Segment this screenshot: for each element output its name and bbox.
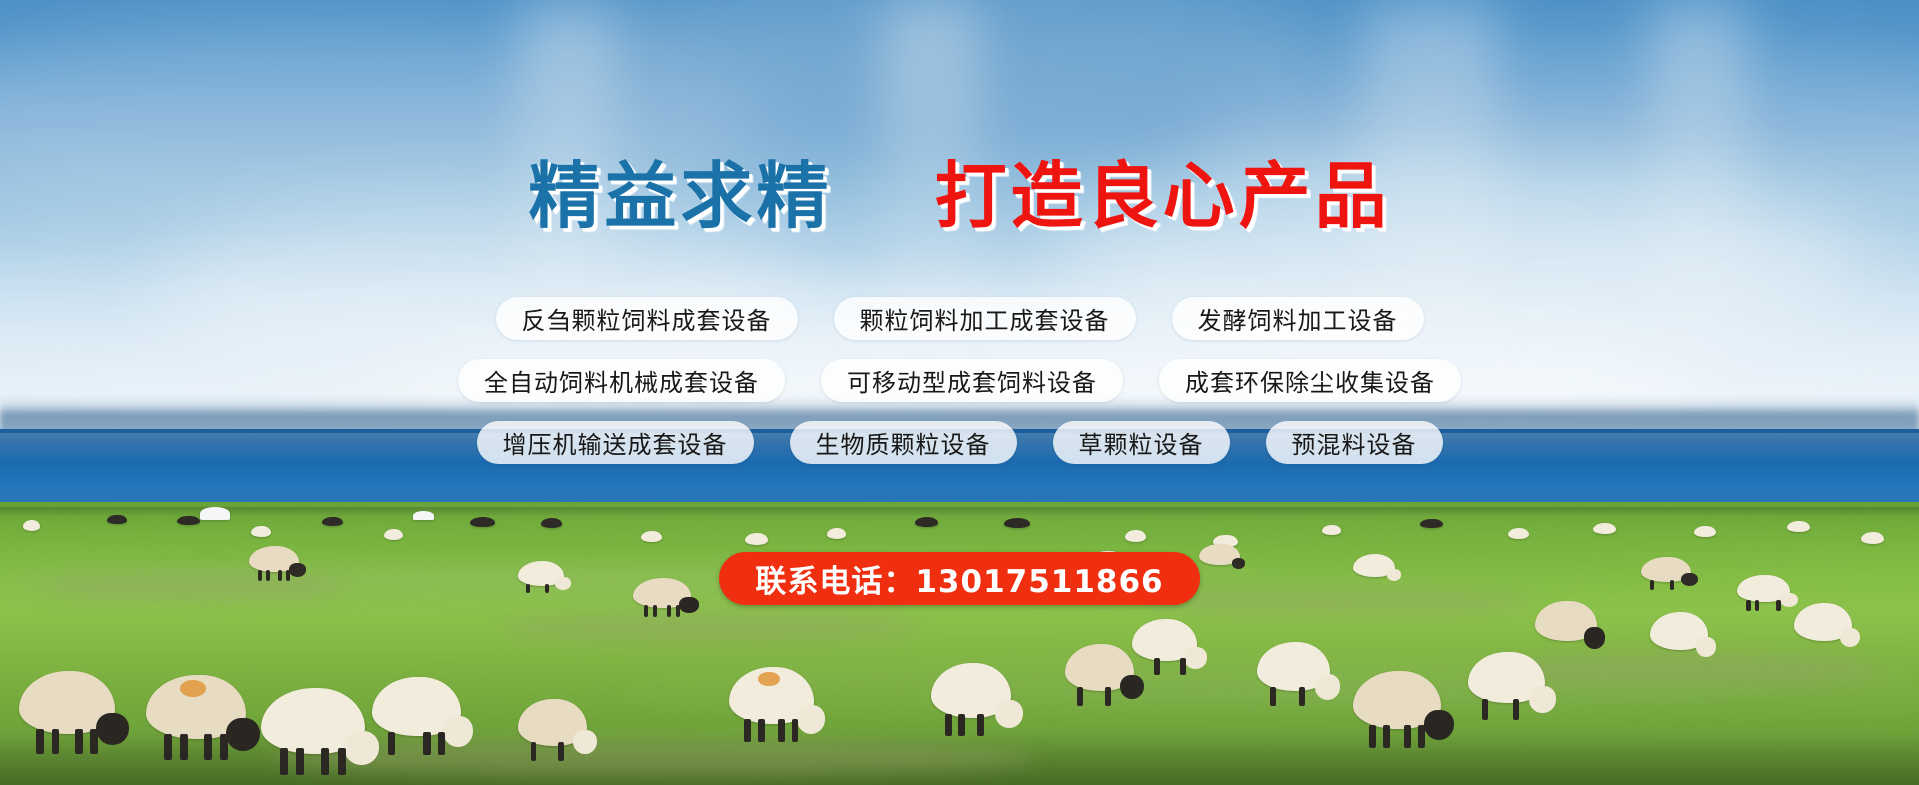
headline-red-text: 打造良心产品 xyxy=(935,154,1391,238)
product-pill[interactable]: 发酵饲料加工设备 xyxy=(1172,297,1424,340)
product-category-row-2: 全自动饲料机械成套设备 可移动型成套饲料设备 成套环保除尘收集设备 xyxy=(0,359,1919,402)
headline-blue-text: 精益求精 xyxy=(528,154,832,238)
product-pill[interactable]: 预混料设备 xyxy=(1266,421,1443,464)
headline: 精益求精 打造良心产品 xyxy=(0,160,1919,232)
product-pill[interactable]: 增压机输送成套设备 xyxy=(477,421,754,464)
promo-banner: 精益求精 打造良心产品 反刍颗粒饲料成套设备 颗粒饲料加工成套设备 发酵饲料加工… xyxy=(0,0,1919,785)
contact-phone-wrapper: 联系电话：13017511866 xyxy=(0,552,1919,605)
product-pill[interactable]: 成套环保除尘收集设备 xyxy=(1159,359,1461,402)
product-category-row-1: 反刍颗粒饲料成套设备 颗粒饲料加工成套设备 发酵饲料加工设备 xyxy=(0,297,1919,340)
product-pill[interactable]: 全自动饲料机械成套设备 xyxy=(458,359,785,402)
product-pill[interactable]: 生物质颗粒设备 xyxy=(790,421,1017,464)
contact-phone-button[interactable]: 联系电话：13017511866 xyxy=(719,552,1199,605)
product-category-list: 反刍颗粒饲料成套设备 颗粒饲料加工成套设备 发酵饲料加工设备 全自动饲料机械成套… xyxy=(0,297,1919,483)
product-category-row-3: 增压机输送成套设备 生物质颗粒设备 草颗粒设备 预混料设备 xyxy=(0,421,1919,464)
banner-content: 精益求精 打造良心产品 反刍颗粒饲料成套设备 颗粒饲料加工成套设备 发酵饲料加工… xyxy=(0,0,1919,785)
product-pill[interactable]: 反刍颗粒饲料成套设备 xyxy=(496,297,798,340)
product-pill[interactable]: 颗粒饲料加工成套设备 xyxy=(834,297,1136,340)
product-pill[interactable]: 可移动型成套饲料设备 xyxy=(821,359,1123,402)
product-pill[interactable]: 草颗粒设备 xyxy=(1053,421,1230,464)
